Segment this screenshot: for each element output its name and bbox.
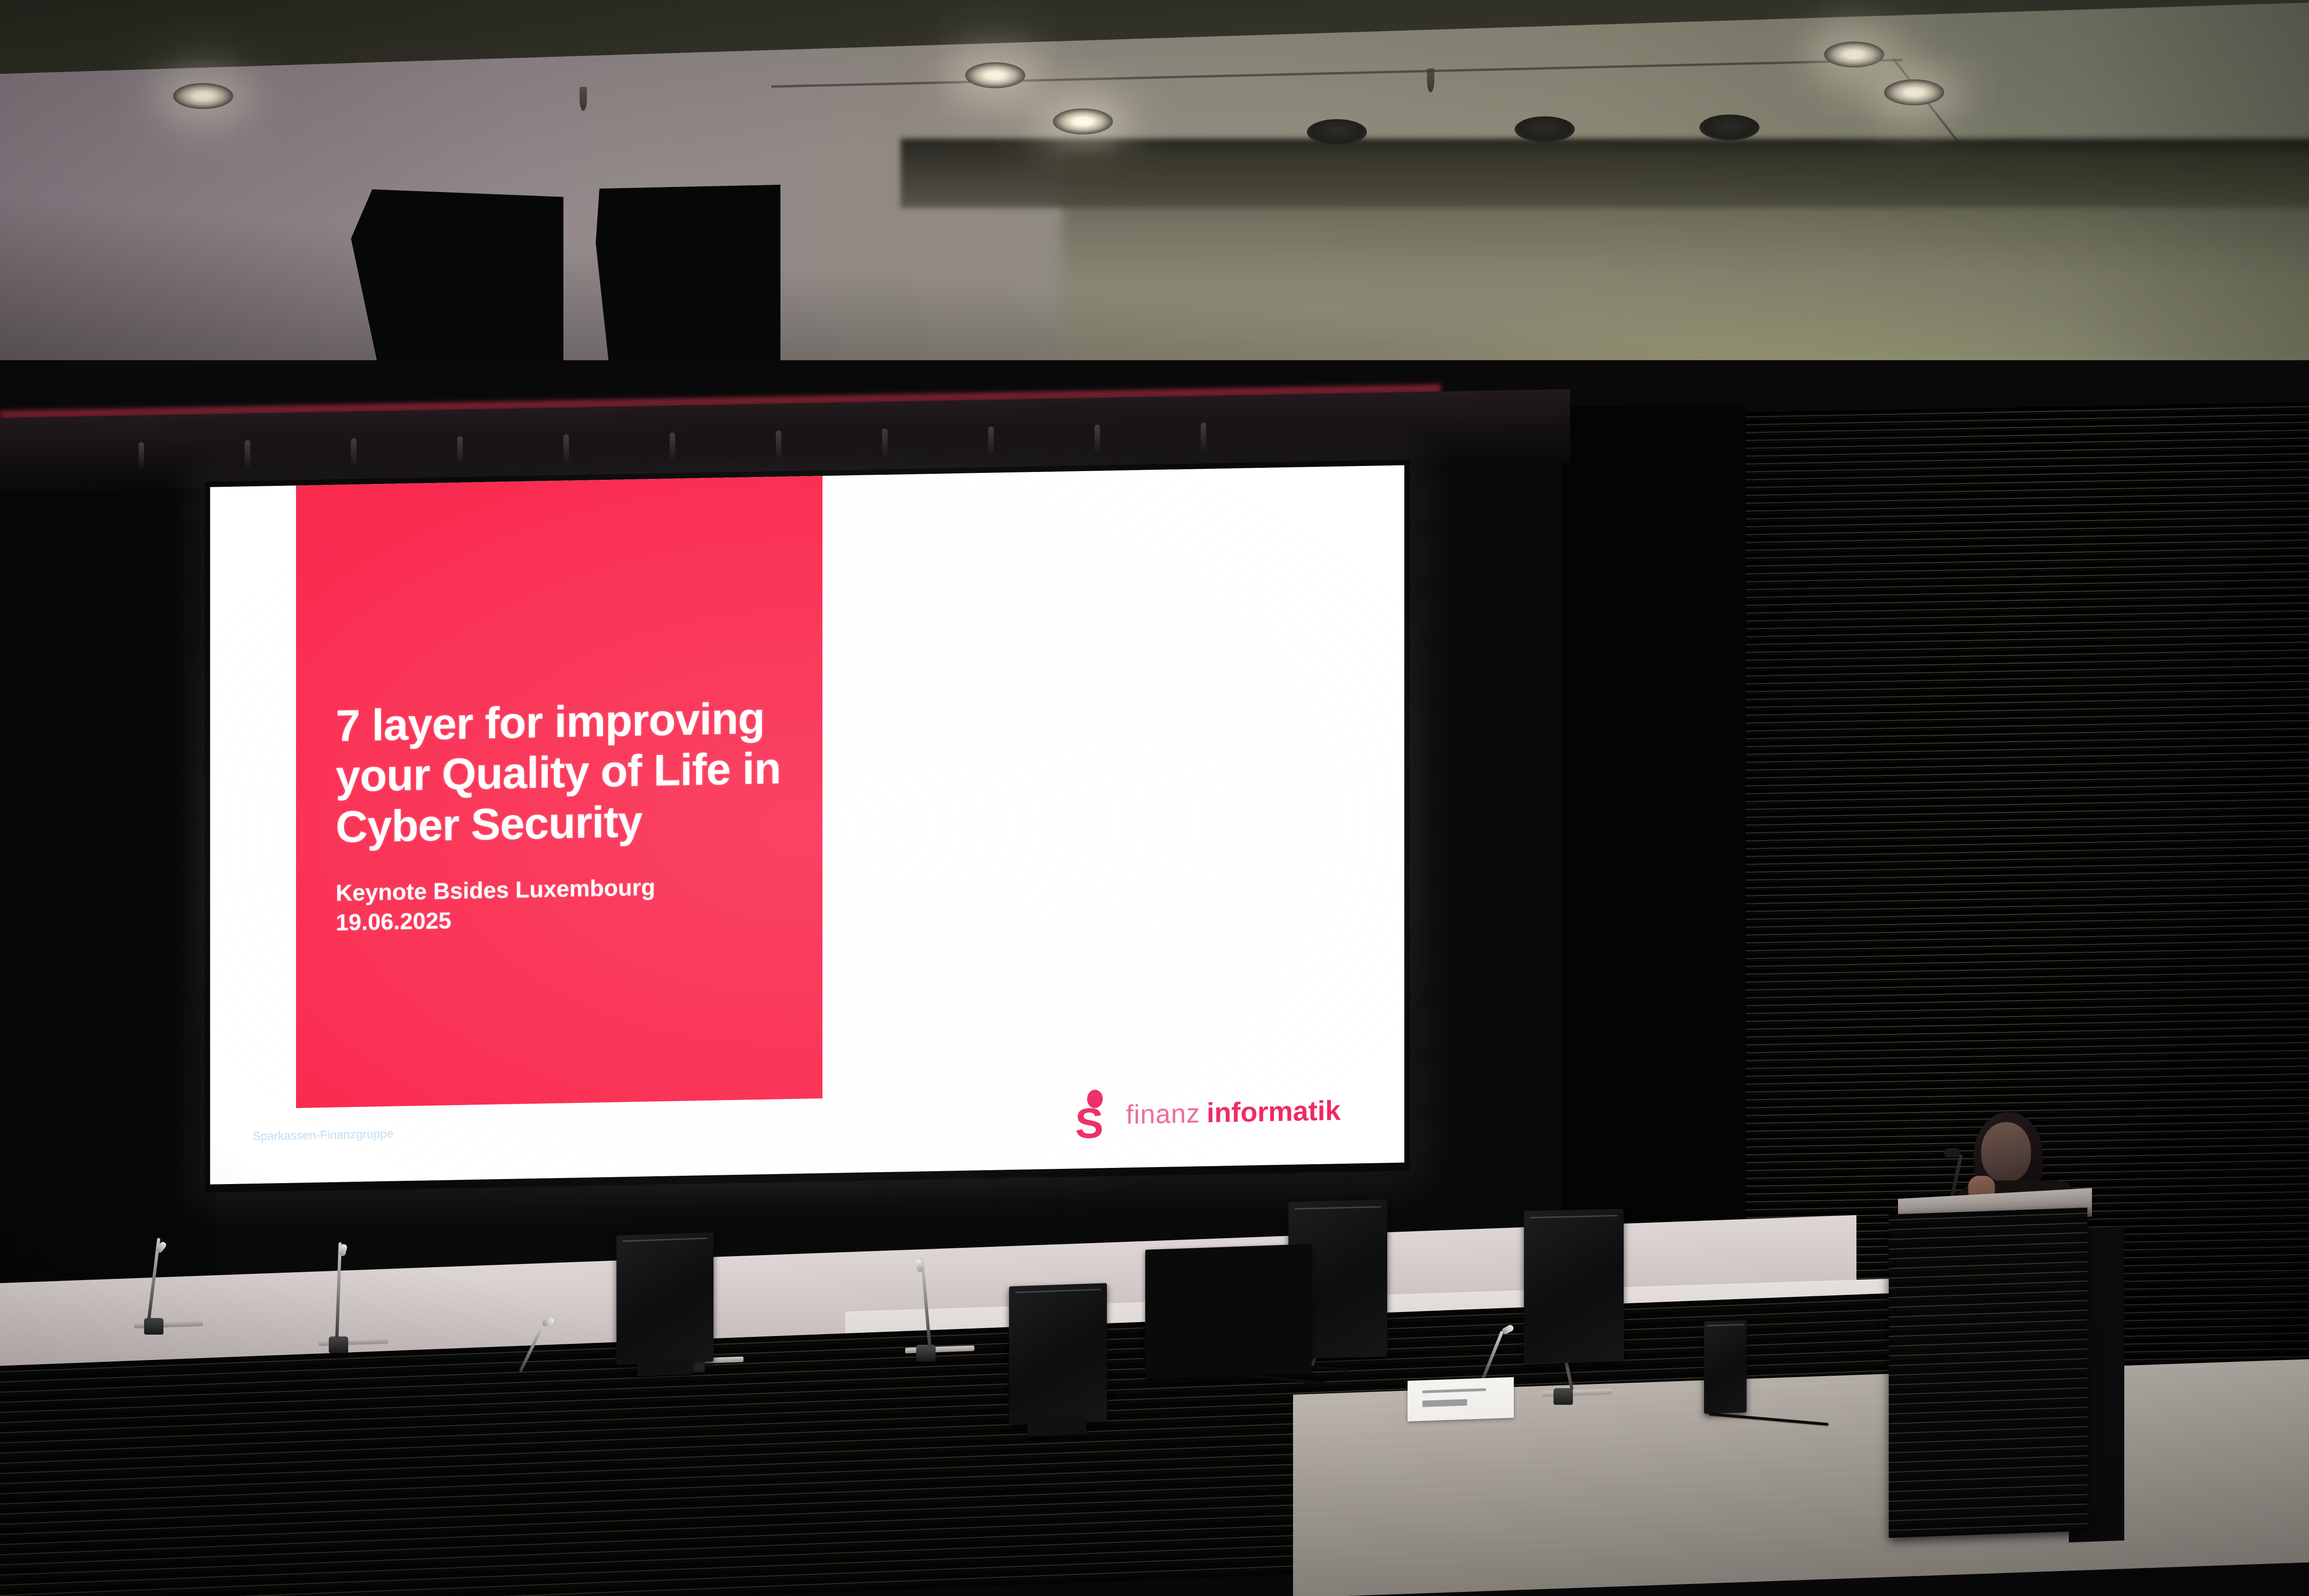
slide-title-line-2: your Quality of Life in <box>336 743 802 802</box>
valance-hook <box>776 430 781 458</box>
valance-hook <box>139 442 144 470</box>
slide-title-line-1: 7 layer for improving <box>336 692 802 751</box>
slide-footer-note: Sparkassen-Finanzgruppe <box>253 1127 393 1144</box>
valance-hook <box>457 436 463 464</box>
ceiling-downlight <box>965 62 1025 88</box>
logo-word-finanz: finanz <box>1126 1098 1200 1130</box>
projection-screen-frame: 7 layer for improving your Quality of Li… <box>205 459 1410 1193</box>
nameplate-text-line <box>1422 1388 1486 1393</box>
desk-nameplate <box>1408 1377 1514 1421</box>
ceiling-downlight-off <box>1515 116 1575 142</box>
ceiling-downlight <box>173 83 233 109</box>
gooseneck-microphone <box>522 1342 541 1388</box>
mic-base <box>1553 1388 1573 1405</box>
panel-monitor <box>1524 1209 1624 1363</box>
valance-hook <box>882 429 888 456</box>
ceiling-downlight-off <box>1699 115 1759 140</box>
projection-screen: 7 layer for improving your Quality of Li… <box>210 465 1404 1184</box>
valance-hook <box>988 427 994 454</box>
slide-title-line-3: Cyber Security <box>336 793 802 852</box>
auditorium-photo: 7 layer for improving your Quality of Li… <box>0 0 2309 1596</box>
logo-word-informatik: informatik <box>1207 1094 1341 1128</box>
pa-speaker-right <box>596 185 780 379</box>
gooseneck-microphone <box>329 1307 348 1353</box>
ceiling-sprinkler <box>1427 68 1434 92</box>
ceiling-downlight <box>1824 42 1884 67</box>
presentation-slide: 7 layer for improving your Quality of Li… <box>210 465 1404 1184</box>
wall-left-dark-panel <box>0 416 217 1293</box>
presenter-head <box>1981 1122 2031 1182</box>
logo-wordmark: finanz informatik <box>1126 1094 1341 1130</box>
panel-monitor-stand <box>637 1359 693 1376</box>
lectern-microphone-icon <box>1944 1148 1960 1157</box>
panel-monitor <box>1009 1283 1107 1425</box>
panel-chair-back <box>1145 1244 1312 1379</box>
pa-speaker-left <box>351 189 563 379</box>
valance-hook <box>563 434 569 462</box>
slide-text-group: 7 layer for improving your Quality of Li… <box>336 692 802 937</box>
sparkassen-s-icon: S <box>1075 1089 1116 1140</box>
gooseneck-microphone <box>916 1315 936 1361</box>
ceiling-downlight <box>1053 109 1113 134</box>
ceiling-sprinkler <box>580 87 587 111</box>
sparkassen-s-glyph: S <box>1075 1110 1116 1140</box>
slide-title: 7 layer for improving your Quality of Li… <box>336 692 802 852</box>
panel-monitor-stand <box>1028 1419 1087 1436</box>
gooseneck-microphone <box>144 1288 163 1335</box>
mic-base <box>144 1318 163 1335</box>
valance-hook <box>351 438 357 466</box>
finanz-informatik-logo: S finanz informatik <box>1075 1085 1341 1140</box>
ceiling-downlight <box>1884 79 1944 105</box>
valance-hook <box>1094 424 1100 452</box>
slide-subtitle: Keynote Bsides Luxembourg 19.06.2025 <box>336 870 802 938</box>
panel-monitor <box>617 1232 713 1365</box>
lectern <box>1889 1208 2087 1538</box>
panel-monitor <box>1704 1320 1747 1414</box>
valance-hook <box>670 432 675 460</box>
nameplate-text-line <box>1422 1399 1467 1407</box>
valance-hook <box>245 440 250 468</box>
ceiling-downlight-off <box>1307 119 1367 145</box>
mic-base <box>329 1336 348 1353</box>
gooseneck-microphone <box>1553 1359 1573 1405</box>
mic-base <box>916 1345 936 1361</box>
valance-hook <box>1201 423 1206 450</box>
